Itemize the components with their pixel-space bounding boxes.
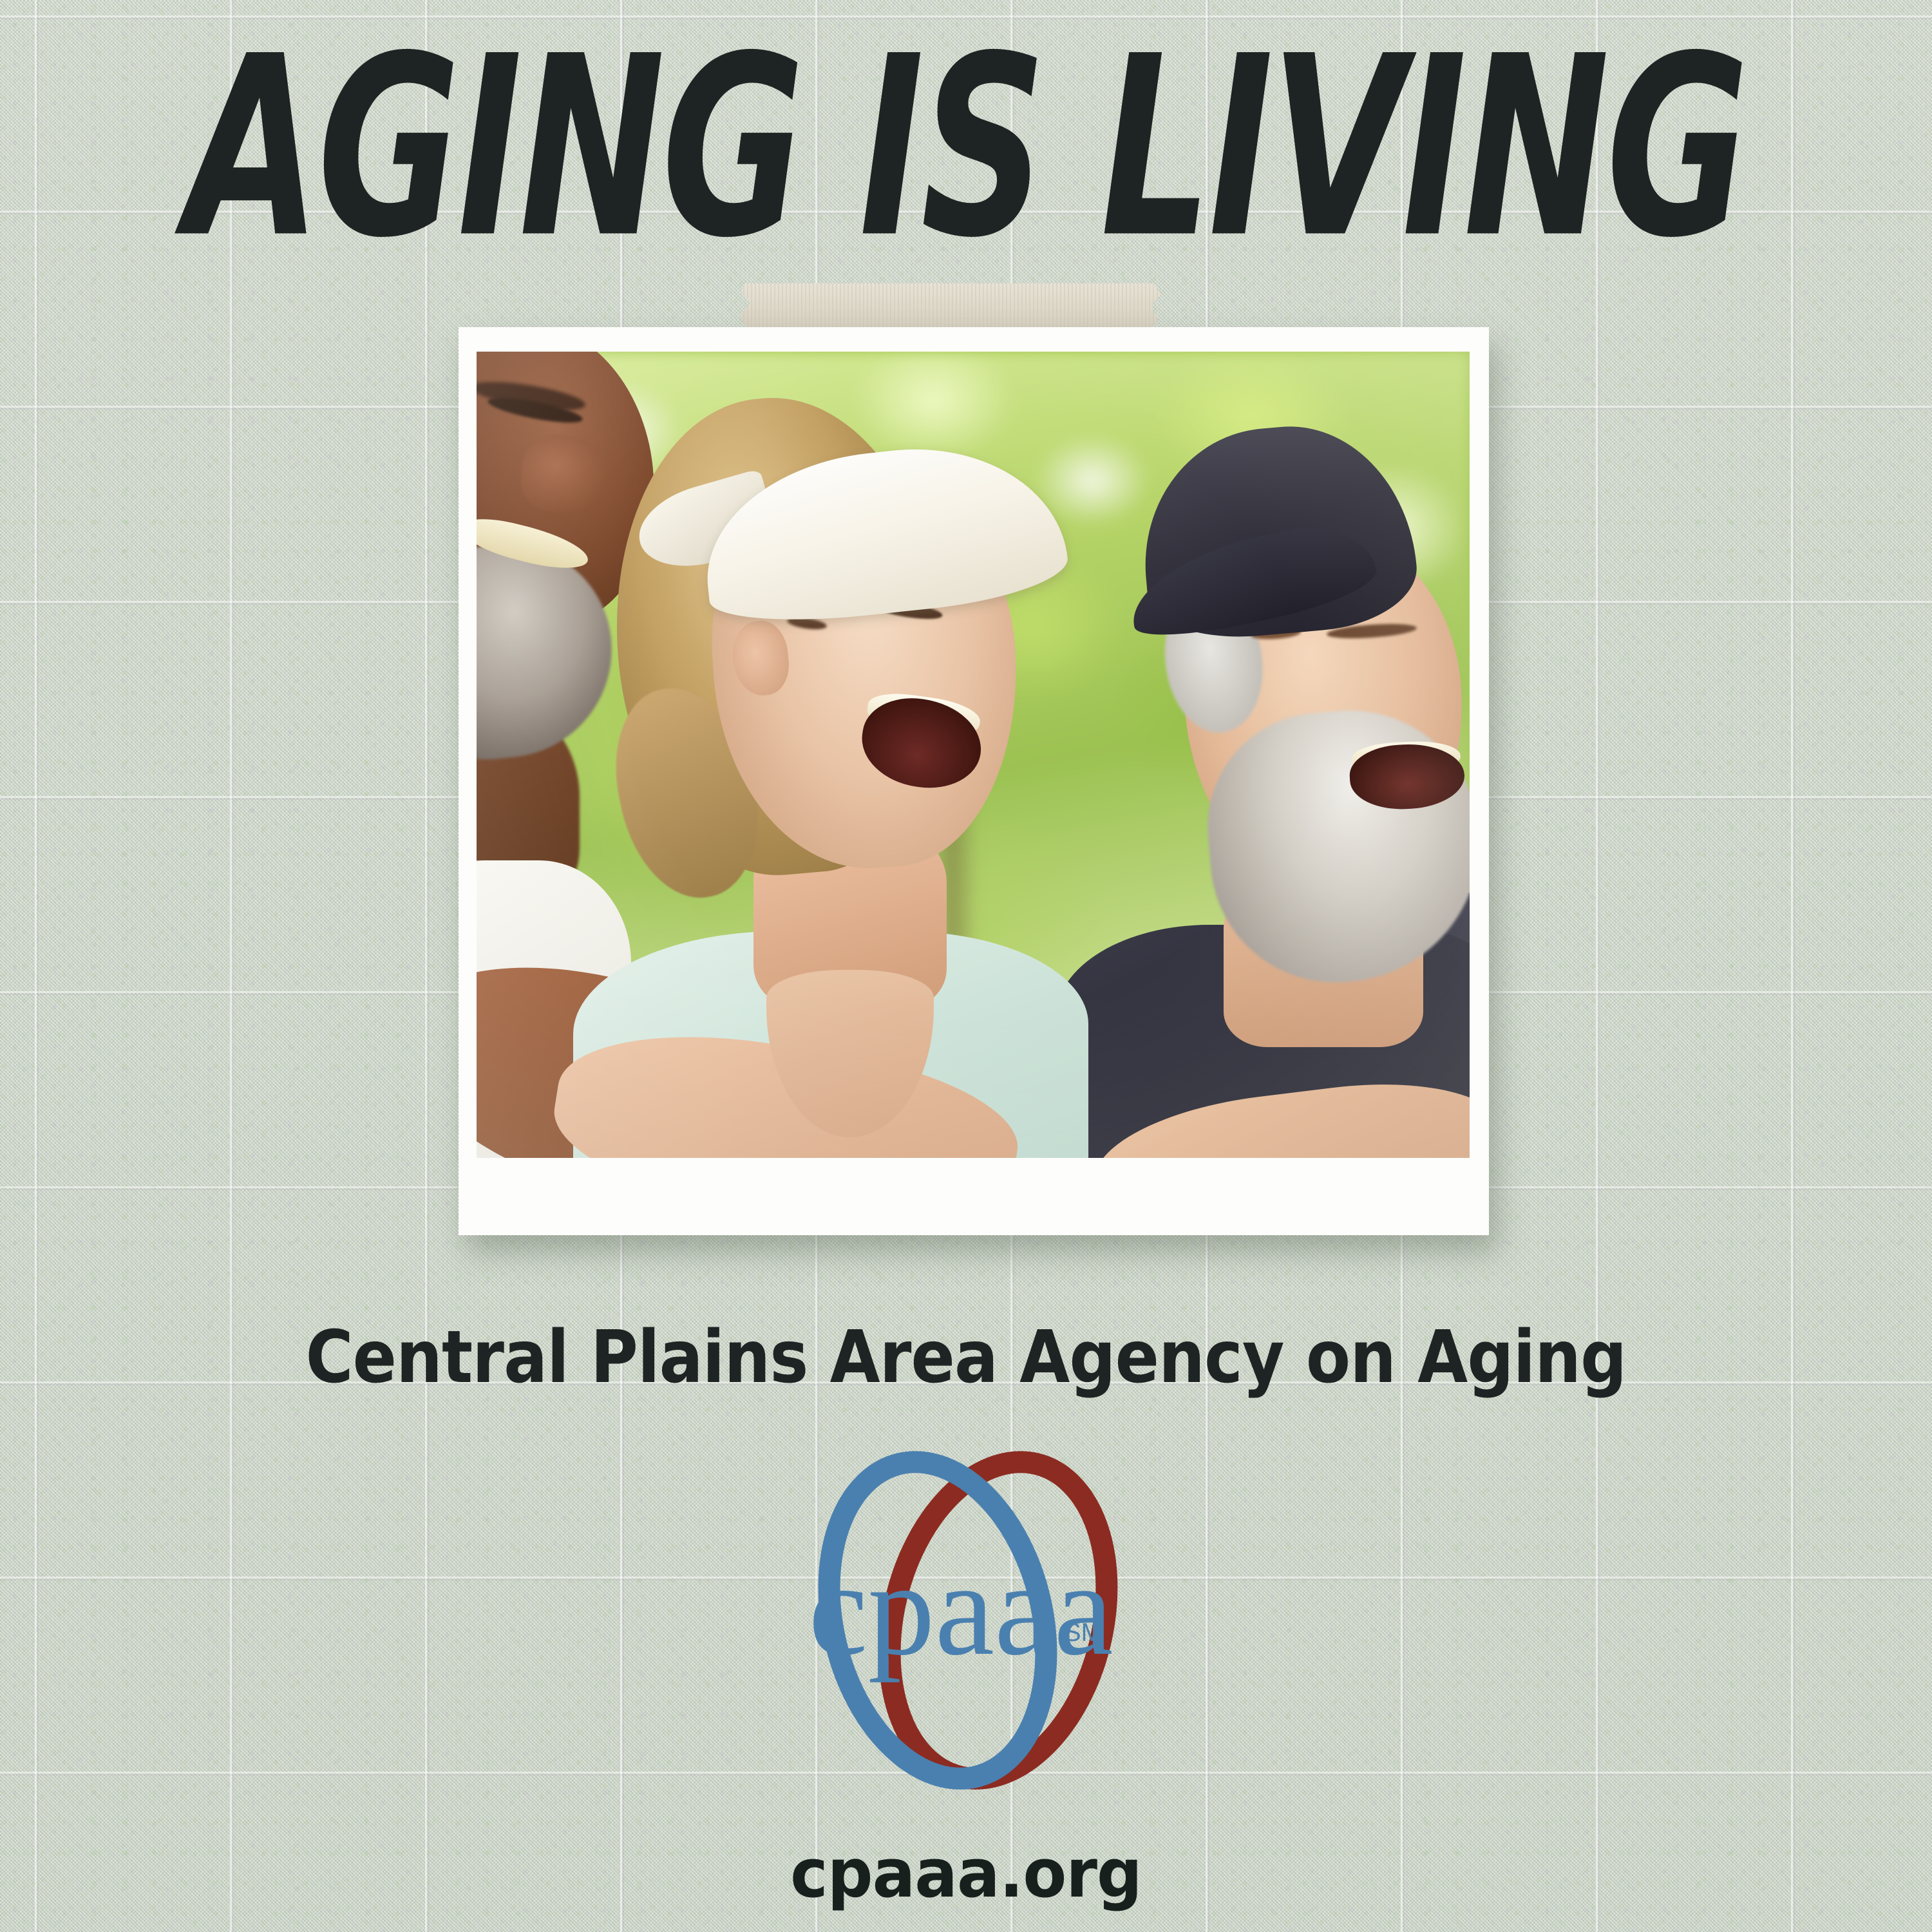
photo-image [477,352,1470,1158]
logo-service-mark: SM [1064,1618,1103,1647]
cpaaa-logo: cpaaa SM [773,1448,1159,1795]
website-url[interactable]: cpaaa.org [48,1834,1884,1913]
poster-canvas: AGING IS LIVING [0,0,1932,1932]
polaroid-photo-frame [459,327,1489,1235]
logo-wordmark: cpaaa [808,1535,1113,1683]
organization-name: Central Plains Area Agency on Aging [97,1321,1835,1394]
washi-tape-decoration [739,283,1161,331]
page-title: AGING IS LIVING [174,23,1758,272]
